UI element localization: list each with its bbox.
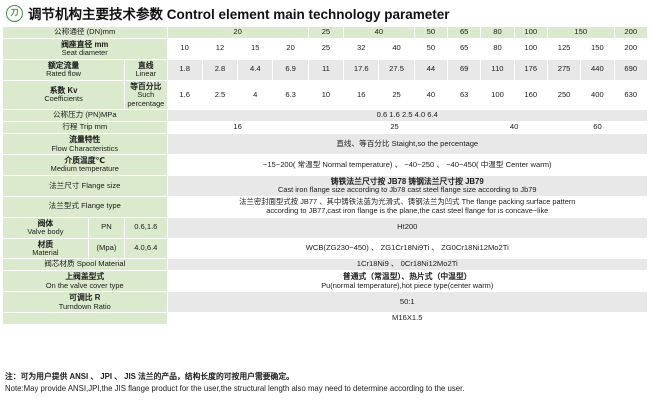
rated-flow-value: 6.9	[273, 59, 308, 80]
seat-value: 25	[308, 38, 343, 59]
dn-value: 150	[547, 27, 614, 39]
table-row-turndown-ratio: 可调比 R Turndown Ratio 50:1	[3, 292, 648, 313]
kv-value: 160	[514, 80, 547, 110]
label-valve-body: 阀体 Valve body	[3, 217, 89, 238]
dn-value: 200	[614, 27, 647, 39]
specification-table: 公称通径 (DN)mm 20 25 40 50 65 80 100 150 20…	[2, 26, 648, 325]
seat-value: 15	[238, 38, 273, 59]
page-title-text: 调节机构主要技术参数 Control element main technolo…	[28, 3, 450, 23]
trip-value: 16	[167, 122, 308, 134]
trip-value: 60	[547, 122, 647, 134]
footer-note-cn: 注：可为用户提供 ANSI 、 JPI 、 JIS 法兰的产品，结构长度的可按用…	[5, 371, 464, 383]
label-valve-cover-type: 上阀盖型式 On the valve cover type	[3, 271, 168, 292]
rated-flow-value: 440	[581, 59, 614, 80]
label-spool-material: 阀芯材质 Spool Material	[3, 259, 168, 271]
label-seat-diameter: 阀座直径 mm Seat diameter	[3, 38, 168, 59]
table-row-flange-size: 法兰尺寸 Flange size 铸铁法兰尺寸按 JB78 铸钢法兰尺寸按 JB…	[3, 176, 648, 197]
kv-value: 630	[614, 80, 647, 110]
kv-value: 1.6	[167, 80, 202, 110]
flange-size-value: 铸铁法兰尺寸按 JB78 铸钢法兰尺寸按 JB79 Cast iron flan…	[167, 176, 648, 197]
table-row-rated-flow: 额定流量 Rated flow 直线 Linear 1.8 2.8 4.4 6.…	[3, 59, 648, 80]
rated-flow-value: 11	[308, 59, 343, 80]
dn-value: 25	[308, 27, 343, 39]
rated-flow-value: 110	[481, 59, 514, 80]
spec-sheet: 刀 调节机构主要技术参数 Control element main techno…	[0, 0, 650, 401]
label-nominal-diameter: 公称通径 (DN)mm	[3, 27, 168, 39]
label-nominal-pressure: 公称压力 (PN)MPa	[3, 110, 168, 122]
nominal-pressure-value: 0.6 1.6 2.5 4.0 6.4	[167, 110, 648, 122]
table-row-nominal-diameter: 公称通径 (DN)mm 20 25 40 50 65 80 100 150 20…	[3, 27, 648, 39]
footer-note-en: Note:May provide ANSI,JPI,the JIS flange…	[5, 383, 464, 395]
kv-value: 40	[414, 80, 447, 110]
seat-value: 20	[273, 38, 308, 59]
label-flow-characteristics: 流量特性 Flow Characteristics	[3, 134, 168, 155]
trip-value: 40	[481, 122, 548, 134]
material-value: WCB(ZG230−450) 、 ZG1Cr18Ni9Ti 、 ZG0Cr18N…	[167, 238, 648, 259]
dn-value: 20	[167, 27, 308, 39]
kv-value: 100	[481, 80, 514, 110]
rated-flow-value: 1.8	[167, 59, 202, 80]
table-row-valve-cover-type: 上阀盖型式 On the valve cover type 普通式（常温型）、热…	[3, 271, 648, 292]
material-unit: (Mpa)	[88, 238, 124, 259]
table-row-thread: M16X1.5	[3, 313, 648, 325]
seat-value: 100	[514, 38, 547, 59]
label-rated-flow-linear: 直线 Linear	[125, 59, 167, 80]
kv-value: 16	[344, 80, 379, 110]
seat-value: 65	[448, 38, 481, 59]
seat-value: 10	[167, 38, 202, 59]
rated-flow-value: 69	[448, 59, 481, 80]
seat-value: 80	[481, 38, 514, 59]
table-row-kv-coefficients: 系数 Kv Coefficients 等百分比 Such percentage …	[3, 80, 648, 110]
thread-value: M16X1.5	[167, 313, 648, 325]
rated-flow-value: 27.5	[379, 59, 414, 80]
medium-temperature-value: −15~200( 常温型 Normal temperature) 、 −40~2…	[167, 155, 648, 176]
rated-flow-value: 2.8	[202, 59, 237, 80]
table-row-material: 材质 Material (Mpa) 4.0,6.4 WCB(ZG230−450)…	[3, 238, 648, 259]
label-turndown-ratio: 可调比 R Turndown Ratio	[3, 292, 168, 313]
page-title: 刀 调节机构主要技术参数 Control element main techno…	[0, 0, 650, 26]
label-thread	[3, 313, 168, 325]
flow-characteristics-value: 直线、等百分比 Staight,so the percentage	[167, 134, 648, 155]
label-flange-type: 法兰型式 Flange type	[3, 197, 168, 217]
valve-body-unit: PN	[88, 217, 124, 238]
label-kv-percentage: 等百分比 Such percentage	[125, 80, 167, 110]
dn-value: 50	[414, 27, 447, 39]
rated-flow-value: 176	[514, 59, 547, 80]
kv-value: 400	[581, 80, 614, 110]
material-range: 4.0,6.4	[125, 238, 167, 259]
table-row-flow-characteristics: 流量特性 Flow Characteristics 直线、等百分比 Staigh…	[3, 134, 648, 155]
table-row-flange-type: 法兰型式 Flange type 法兰密封面型式按 JB77 、其中铸铁法蓝为光…	[3, 197, 648, 217]
valve-body-value: Ht200	[167, 217, 648, 238]
seat-value: 50	[414, 38, 447, 59]
valve-cover-type-value: 普通式（常温型）、热片式（中温型） Pu(normal temperature)…	[167, 271, 648, 292]
table-row-trip: 行程 Trip mm 16 25 40 60	[3, 122, 648, 134]
rated-flow-value: 17.6	[344, 59, 379, 80]
label-trip: 行程 Trip mm	[3, 122, 168, 134]
trip-value: 25	[308, 122, 481, 134]
footer-note: 注：可为用户提供 ANSI 、 JPI 、 JIS 法兰的产品，结构长度的可按用…	[5, 371, 464, 395]
kv-value: 2.5	[202, 80, 237, 110]
label-material: 材质 Material	[3, 238, 89, 259]
dn-value: 100	[514, 27, 547, 39]
label-medium-temperature: 介质温度℃ Medium temperature	[3, 155, 168, 176]
seat-value: 150	[581, 38, 614, 59]
seat-value: 32	[344, 38, 379, 59]
seat-value: 200	[614, 38, 647, 59]
table-row-seat-diameter: 阀座直径 mm Seat diameter 10 12 15 20 25 32 …	[3, 38, 648, 59]
rated-flow-value: 4.4	[238, 59, 273, 80]
seat-value: 125	[547, 38, 580, 59]
kv-value: 250	[547, 80, 580, 110]
dn-value: 80	[481, 27, 514, 39]
table-row-valve-body: 阀体 Valve body PN 0.6,1.6 Ht200	[3, 217, 648, 238]
seat-value: 12	[202, 38, 237, 59]
rated-flow-value: 275	[547, 59, 580, 80]
company-logo-icon: 刀	[6, 5, 23, 22]
table-row-nominal-pressure: 公称压力 (PN)MPa 0.6 1.6 2.5 4.0 6.4	[3, 110, 648, 122]
kv-value: 25	[379, 80, 414, 110]
turndown-ratio-value: 50:1	[167, 292, 648, 313]
rated-flow-value: 690	[614, 59, 647, 80]
seat-value: 40	[379, 38, 414, 59]
dn-value: 40	[344, 27, 415, 39]
rated-flow-value: 44	[414, 59, 447, 80]
kv-value: 63	[448, 80, 481, 110]
label-kv-coefficients: 系数 Kv Coefficients	[3, 80, 125, 110]
spool-material-value: 1Cr18Ni9 、 0Cr18Ni12Mo2Ti	[167, 259, 648, 271]
valve-body-range: 0.6,1.6	[125, 217, 167, 238]
kv-value: 4	[238, 80, 273, 110]
label-rated-flow: 额定流量 Rated flow	[3, 59, 125, 80]
kv-value: 6.3	[273, 80, 308, 110]
table-row-medium-temperature: 介质温度℃ Medium temperature −15~200( 常温型 No…	[3, 155, 648, 176]
table-row-spool-material: 阀芯材质 Spool Material 1Cr18Ni9 、 0Cr18Ni12…	[3, 259, 648, 271]
flange-type-value: 法兰密封面型式按 JB77 、其中铸铁法蓝为光滑式、铸钢法兰为凹式 The fl…	[167, 197, 648, 217]
dn-value: 65	[448, 27, 481, 39]
label-flange-size: 法兰尺寸 Flange size	[3, 176, 168, 197]
kv-value: 10	[308, 80, 343, 110]
